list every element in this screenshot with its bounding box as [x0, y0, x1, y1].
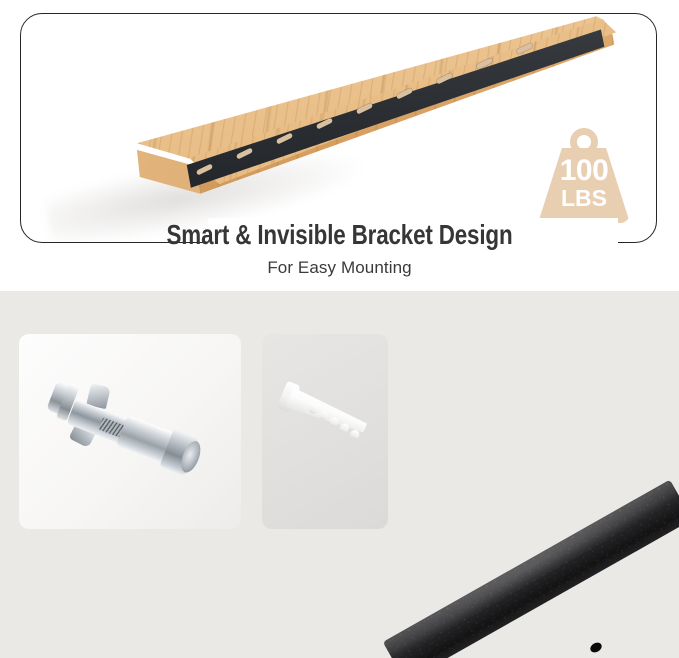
bottom-feature-panel: VS Upgrade Metal Anchors heavy-duty Made… — [0, 291, 679, 658]
plastic-anchor-panel — [262, 334, 388, 529]
product-infographic: 100 LBS Smart & Invisible Bracket Design… — [0, 0, 679, 658]
plastic-anchor-image — [270, 377, 381, 461]
iron-pipe-image — [398, 583, 679, 658]
invisible-bracket — [36, 8, 616, 223]
weight-unit: LBS — [538, 187, 630, 210]
weight-label-group: 100 LBS — [538, 156, 630, 210]
pipe-screw-hole — [589, 641, 604, 655]
pipe-texture — [383, 479, 679, 658]
page-subtitle: For Easy Mounting — [0, 258, 679, 278]
bracket-bar — [36, 8, 616, 223]
floating-shelf-image — [36, 8, 616, 223]
top-feature-panel: 100 LBS Smart & Invisible Bracket Design… — [0, 0, 679, 291]
weight-value: 100 — [538, 156, 630, 186]
weight-capacity-badge: 100 LBS — [534, 128, 634, 223]
page-title: Smart & Invisible Bracket Design — [68, 219, 611, 251]
metal-anchor-panel — [19, 334, 241, 529]
metal-anchor-image — [32, 362, 229, 506]
